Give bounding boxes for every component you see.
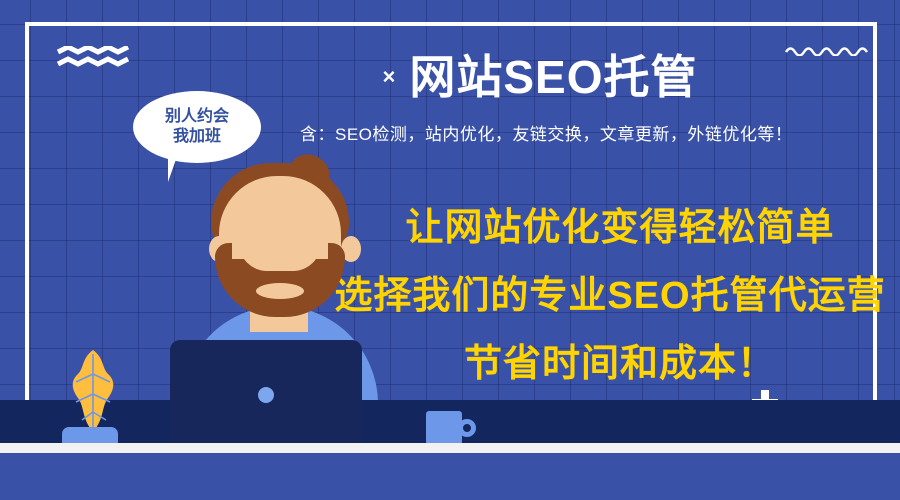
speech-bubble: 别人约会 我加班 [133, 91, 261, 163]
laptop-logo-icon [258, 387, 274, 403]
plant-icon [58, 348, 128, 434]
speech-bubble-line-2: 我加班 [173, 127, 221, 147]
wave-line-icon [784, 44, 874, 56]
speech-bubble-line-1: 别人约会 [165, 107, 229, 127]
seo-promo-banner: × 网站SEO托管 含：SEO检测，站内优化，友链交换，文章更新，外链优化等！ … [0, 0, 900, 500]
desk-surface-highlight [0, 443, 900, 453]
person-mouth [256, 283, 304, 299]
desk-front [0, 453, 900, 500]
